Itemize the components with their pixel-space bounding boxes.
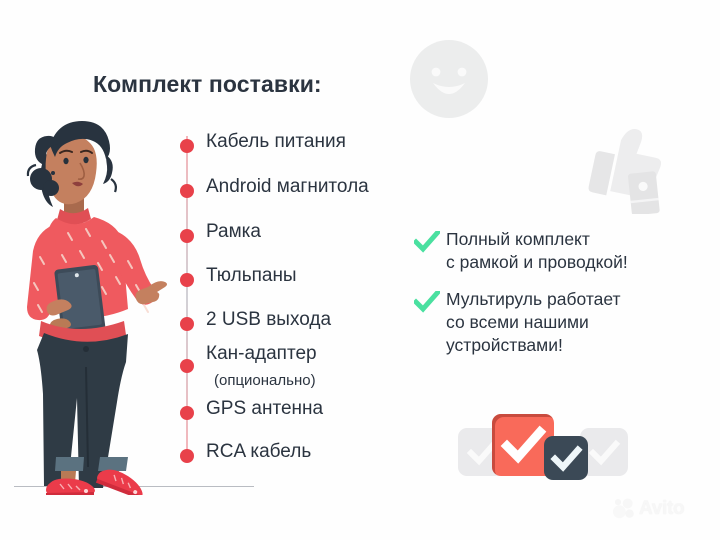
green-check-icon bbox=[414, 291, 440, 313]
list-item-label: Тюльпаны bbox=[206, 265, 297, 287]
list-item-label: GPS антенна bbox=[206, 398, 323, 420]
list-item-label: Рамка bbox=[206, 221, 261, 243]
benefit-text: Мультируль работает со всеми нашими устр… bbox=[446, 288, 710, 357]
benefit-item: Полный комплект с рамкой и проводкой! bbox=[414, 228, 710, 274]
benefit-text: Полный комплект с рамкой и проводкой! bbox=[446, 228, 710, 274]
promo-card: Комплект поставки: Кабель питания Androi… bbox=[0, 0, 720, 540]
list-item-label: Кабель питания bbox=[206, 131, 346, 153]
check-cards-cluster bbox=[458, 408, 628, 490]
avito-watermark-text: Avito bbox=[639, 498, 684, 520]
thumbs-up-icon bbox=[578, 116, 676, 214]
benefits-list: Полный комплект с рамкой и проводкой! Му… bbox=[414, 228, 710, 371]
green-check-icon bbox=[414, 231, 440, 253]
list-item-label: Android магнитола bbox=[206, 176, 369, 198]
list-item-label: Кан-адаптер bbox=[206, 343, 317, 365]
package-contents-list: Кабель питания Android магнитола Рамка Т… bbox=[176, 128, 426, 468]
list-item-sublabel: (опционально) bbox=[214, 372, 316, 389]
check-card-navy bbox=[544, 436, 588, 480]
avito-watermark: Avito bbox=[612, 496, 710, 522]
woman-pointing-illustration bbox=[10, 105, 185, 495]
page-title: Комплект поставки: bbox=[93, 71, 322, 98]
list-item-label: 2 USB выхода bbox=[206, 309, 331, 331]
list-item-label: RCA кабель bbox=[206, 441, 311, 463]
benefit-item: Мультируль работает со всеми нашими устр… bbox=[414, 288, 710, 357]
smiley-face-icon bbox=[408, 38, 490, 120]
